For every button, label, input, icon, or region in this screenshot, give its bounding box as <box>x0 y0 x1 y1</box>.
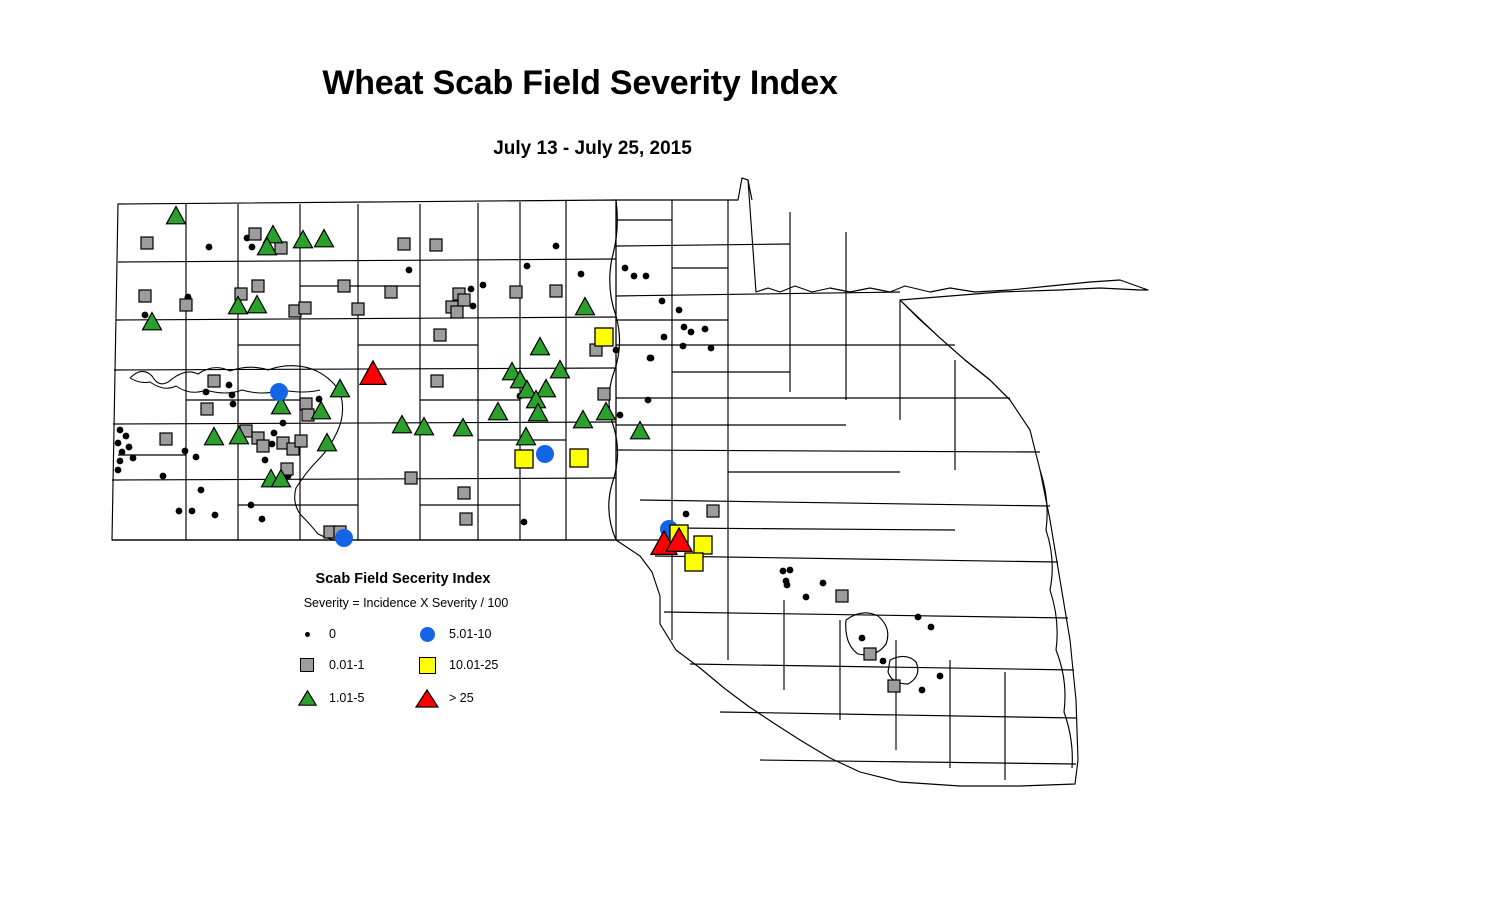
marker-low <box>888 680 900 692</box>
marker-high <box>536 445 554 463</box>
marker-very-high <box>515 450 533 468</box>
marker-low <box>460 513 472 525</box>
marker-zero <box>631 273 638 280</box>
marker-zero <box>661 334 668 341</box>
marker-zero <box>553 243 560 250</box>
marker-zero <box>115 467 122 474</box>
marker-zero <box>524 263 531 270</box>
marker-zero <box>702 326 709 333</box>
marker-moderate <box>393 416 412 433</box>
marker-low <box>208 375 220 387</box>
marker-zero <box>126 444 133 451</box>
marker-very-high <box>694 536 712 554</box>
state-county-map <box>0 0 1503 900</box>
marker-zero <box>784 582 791 589</box>
marker-zero <box>119 449 126 456</box>
marker-zero <box>521 519 528 526</box>
marker-zero <box>212 512 219 519</box>
marker-low <box>836 590 848 602</box>
marker-zero <box>117 458 124 465</box>
legend-item-3[interactable]: 5.01-10 <box>411 621 491 647</box>
marker-low <box>385 286 397 298</box>
legend-item-1[interactable]: 0.01-1 <box>291 652 364 678</box>
marker-moderate <box>331 380 350 397</box>
marker-zero <box>271 430 278 437</box>
marker-moderate <box>537 380 556 397</box>
marker-zero <box>198 487 205 494</box>
legend-label-0: 0 <box>329 627 336 641</box>
marker-zero <box>142 312 149 319</box>
legend-label-2: 1.01-5 <box>329 691 364 705</box>
marker-moderate <box>294 231 313 248</box>
marker-zero <box>230 401 237 408</box>
marker-zero <box>645 397 652 404</box>
marker-moderate <box>167 207 186 224</box>
marker-low <box>295 435 307 447</box>
marker-zero <box>928 624 935 631</box>
marker-low <box>180 299 192 311</box>
marker-moderate <box>248 296 267 313</box>
marker-moderate <box>489 403 508 420</box>
marker-low <box>141 237 153 249</box>
marker-zero <box>915 614 922 621</box>
marker-low <box>430 239 442 251</box>
marker-very-high <box>570 449 588 467</box>
marker-zero <box>226 382 233 389</box>
legend-item-4[interactable]: 10.01-25 <box>411 652 498 678</box>
legend-label-1: 0.01-1 <box>329 658 364 672</box>
marker-high <box>270 383 288 401</box>
marker-zero <box>622 265 629 272</box>
marker-zero <box>919 687 926 694</box>
marker-moderate <box>454 419 473 436</box>
marker-zero <box>470 303 477 310</box>
map-canvas <box>0 0 1503 900</box>
marker-low <box>257 440 269 452</box>
legend-item-5[interactable]: > 25 <box>411 685 474 711</box>
marker-low <box>451 306 463 318</box>
marker-low <box>431 375 443 387</box>
marker-zero <box>643 273 650 280</box>
marker-low <box>510 286 522 298</box>
marker-moderate <box>315 230 334 247</box>
marker-zero <box>229 392 236 399</box>
marker-zero <box>406 267 413 274</box>
marker-zero <box>206 244 213 251</box>
marker-zero <box>189 508 196 515</box>
blue-circle-icon <box>411 621 443 647</box>
legend-item-0[interactable]: 0 <box>291 621 336 647</box>
marker-zero <box>937 673 944 680</box>
marker-zero <box>676 307 683 314</box>
marker-zero <box>780 568 787 575</box>
legend-formula: Severity = Incidence X Severity / 100 <box>283 596 529 610</box>
marker-zero <box>880 658 887 665</box>
marker-low <box>707 505 719 517</box>
marker-zero <box>803 594 810 601</box>
marker-zero <box>248 502 255 509</box>
marker-zero <box>617 412 624 419</box>
marker-zero <box>468 286 475 293</box>
marker-low <box>275 242 287 254</box>
marker-moderate <box>597 403 616 420</box>
marker-zero <box>262 457 269 464</box>
marker-very-high <box>595 328 613 346</box>
marker-zero <box>176 508 183 515</box>
marker-low <box>352 303 364 315</box>
gray-square-icon <box>291 652 323 678</box>
marker-low <box>249 228 261 240</box>
map-legend: Scab Field Secerity Index Severity = Inc… <box>283 571 533 726</box>
marker-low <box>201 403 213 415</box>
marker-zero <box>680 343 687 350</box>
marker-low <box>338 280 350 292</box>
marker-low <box>458 294 470 306</box>
marker-zero <box>117 427 124 434</box>
marker-zero <box>613 347 620 354</box>
marker-zero <box>787 567 794 574</box>
marker-zero <box>269 441 276 448</box>
marker-zero <box>659 298 666 305</box>
marker-low <box>405 472 417 484</box>
marker-zero <box>647 355 654 362</box>
marker-moderate <box>415 418 434 435</box>
marker-zero <box>259 516 266 523</box>
marker-moderate <box>576 298 595 315</box>
marker-zero <box>578 271 585 278</box>
marker-high <box>335 529 353 547</box>
legend-item-2[interactable]: 1.01-5 <box>291 685 364 711</box>
marker-low <box>458 487 470 499</box>
yellow-square-icon <box>411 652 443 678</box>
marker-moderate <box>551 361 570 378</box>
marker-low <box>598 388 610 400</box>
marker-zero <box>683 511 690 518</box>
marker-zero <box>708 345 715 352</box>
marker-low <box>160 433 172 445</box>
marker-low <box>299 302 311 314</box>
marker-moderate <box>531 338 550 355</box>
marker-zero <box>182 448 189 455</box>
marker-zero <box>859 635 866 642</box>
marker-zero <box>681 324 688 331</box>
marker-moderate <box>318 434 337 451</box>
marker-zero <box>688 329 695 336</box>
marker-moderate <box>574 411 593 428</box>
black-dot-icon <box>291 621 323 647</box>
marker-zero <box>203 389 210 396</box>
legend-label-4: 10.01-25 <box>449 658 498 672</box>
marker-zero <box>193 454 200 461</box>
marker-low <box>864 648 876 660</box>
marker-moderate <box>631 422 650 439</box>
marker-severe <box>360 361 386 384</box>
marker-zero <box>130 455 137 462</box>
marker-zero <box>280 420 287 427</box>
marker-low <box>550 285 562 297</box>
marker-low <box>300 398 312 410</box>
legend-title: Scab Field Secerity Index <box>294 571 512 587</box>
marker-moderate <box>517 428 536 445</box>
marker-zero <box>115 440 122 447</box>
marker-low <box>434 329 446 341</box>
marker-very-high <box>685 553 703 571</box>
marker-zero <box>249 244 256 251</box>
marker-low <box>252 280 264 292</box>
marker-zero <box>123 433 130 440</box>
legend-label-3: 5.01-10 <box>449 627 491 641</box>
red-triangle-icon <box>411 685 443 711</box>
marker-moderate <box>205 428 224 445</box>
legend-items: 0 0.01-1 1.01-5 5.01-10 <box>283 621 533 713</box>
marker-zero <box>480 282 487 289</box>
green-triangle-icon <box>291 685 323 711</box>
legend-label-5: > 25 <box>449 691 474 705</box>
marker-zero <box>820 580 827 587</box>
marker-low <box>139 290 151 302</box>
marker-zero <box>160 473 167 480</box>
marker-low <box>398 238 410 250</box>
